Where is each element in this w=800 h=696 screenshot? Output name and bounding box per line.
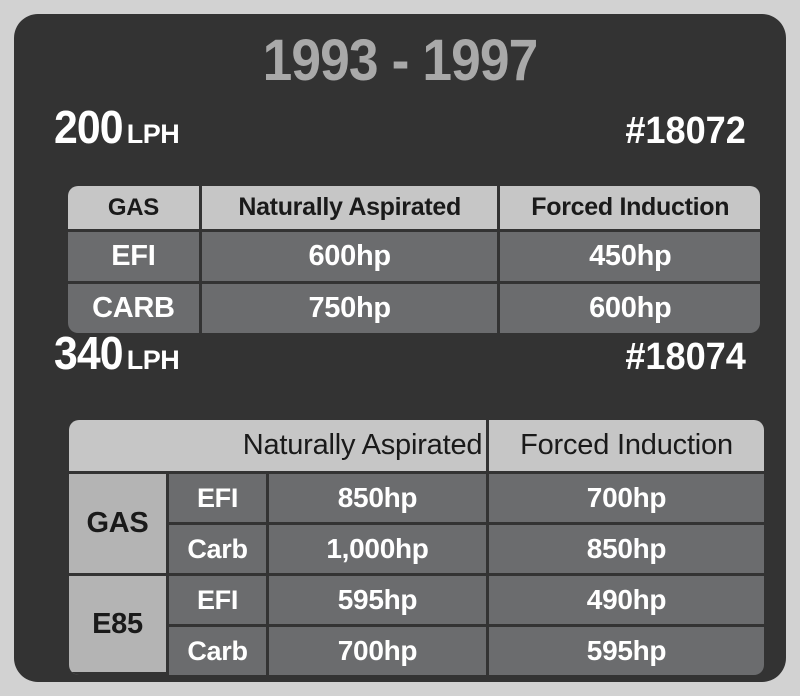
value-carb-naturally-aspirated: 750hp	[202, 284, 501, 333]
row-label-gas-carb: Carb	[169, 525, 269, 576]
value-carb-forced-induction: 600hp	[500, 284, 760, 333]
column-header-fuel-type: GAS	[68, 186, 202, 232]
flow-rate-group-200lph: 200 LPH	[54, 104, 179, 150]
row-label-e85-efi: EFI	[169, 576, 269, 627]
column-header-forced-induction: Forced Induction	[500, 186, 760, 232]
value-gas-carb-forced-induction: 850hp	[489, 525, 764, 576]
spec-card: 1993 - 1997 200 LPH #18072 GAS Naturally…	[14, 14, 786, 682]
value-efi-naturally-aspirated: 600hp	[202, 232, 501, 284]
table-row: GAS EFI 850hp 700hp	[69, 474, 764, 525]
value-e85-efi-forced-induction: 490hp	[489, 576, 764, 627]
horsepower-table-200lph: GAS Naturally Aspirated Forced Induction…	[68, 186, 760, 333]
flow-rate-unit-200: LPH	[127, 121, 180, 148]
row-label-carb: CARB	[68, 284, 202, 333]
group-label-gas: GAS	[69, 474, 169, 576]
value-gas-efi-forced-induction: 700hp	[489, 474, 764, 525]
value-e85-carb-forced-induction: 595hp	[489, 627, 764, 675]
table-row: Carb 1,000hp 850hp	[69, 525, 764, 576]
section-header-200lph: 200 LPH #18072	[14, 104, 786, 150]
flow-rate-value-340: 340	[54, 330, 123, 376]
flow-rate-unit-340: LPH	[127, 347, 180, 374]
row-label-e85-carb: Carb	[169, 627, 269, 675]
column-header-naturally-aspirated: Naturally Aspirated	[202, 186, 501, 232]
table-row: Carb 700hp 595hp	[69, 627, 764, 675]
page-title: 1993 - 1997	[45, 14, 755, 90]
part-number-18074: #18074	[626, 338, 746, 376]
flow-rate-group-340lph: 340 LPH	[54, 330, 179, 376]
table-row: E85 EFI 595hp 490hp	[69, 576, 764, 627]
value-gas-efi-naturally-aspirated: 850hp	[269, 474, 489, 525]
column-header-forced-induction: Forced Induction	[489, 420, 764, 474]
flow-rate-value-200: 200	[54, 104, 123, 150]
group-label-e85: E85	[69, 576, 169, 675]
section-header-340lph: 340 LPH #18074	[14, 330, 786, 376]
part-number-18072: #18072	[626, 112, 746, 150]
row-label-efi: EFI	[68, 232, 202, 284]
value-e85-efi-naturally-aspirated: 595hp	[269, 576, 489, 627]
table-header-row: GAS Naturally Aspirated Forced Induction	[68, 186, 760, 232]
value-gas-carb-naturally-aspirated: 1,000hp	[269, 525, 489, 576]
table-header-row: Naturally Aspirated Forced Induction	[69, 420, 764, 474]
row-label-gas-efi: EFI	[169, 474, 269, 525]
value-efi-forced-induction: 450hp	[500, 232, 760, 284]
table-row: CARB 750hp 600hp	[68, 284, 760, 333]
table-row: EFI 600hp 450hp	[68, 232, 760, 284]
horsepower-table-340lph: Naturally Aspirated Forced Induction GAS…	[69, 420, 764, 675]
column-header-naturally-aspirated: Naturally Aspirated	[69, 420, 489, 474]
horsepower-table-200lph-wrapper: GAS Naturally Aspirated Forced Induction…	[68, 186, 760, 333]
horsepower-table-340lph-wrapper: Naturally Aspirated Forced Induction GAS…	[69, 420, 764, 675]
value-e85-carb-naturally-aspirated: 700hp	[269, 627, 489, 675]
column-header-naturally-aspirated-label: Naturally Aspirated	[69, 429, 486, 462]
